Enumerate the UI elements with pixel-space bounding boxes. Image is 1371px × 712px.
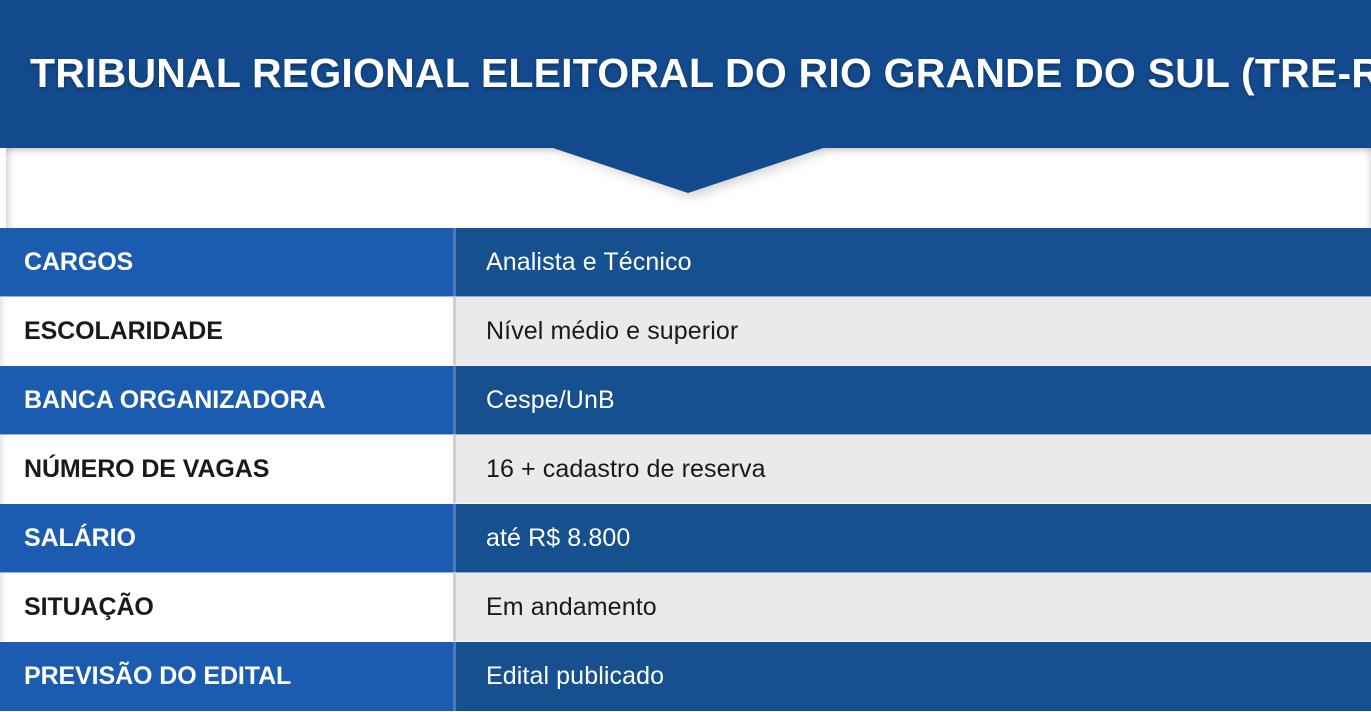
row-value: Em andamento	[453, 573, 1371, 642]
page-root: TRIBUNAL REGIONAL ELEITORAL DO RIO GRAND…	[0, 0, 1371, 712]
row-label: ESCOLARIDADE	[0, 297, 453, 366]
row-label: SITUAÇÃO	[0, 573, 453, 642]
row-value: até R$ 8.800	[453, 504, 1371, 573]
table-row: NÚMERO DE VAGAS 16 + cadastro de reserva	[0, 435, 1371, 504]
row-label: PREVISÃO DO EDITAL	[0, 642, 453, 711]
row-label: NÚMERO DE VAGAS	[0, 435, 453, 504]
row-label: SALÁRIO	[0, 504, 453, 573]
info-table: CARGOS Analista e Técnico ESCOLARIDADE N…	[0, 228, 1371, 711]
row-value: Nível médio e superior	[453, 297, 1371, 366]
table-row: ESCOLARIDADE Nível médio e superior	[0, 297, 1371, 366]
table-row: PREVISÃO DO EDITAL Edital publicado	[0, 642, 1371, 711]
header-banner: TRIBUNAL REGIONAL ELEITORAL DO RIO GRAND…	[0, 0, 1371, 148]
row-value: Edital publicado	[453, 642, 1371, 711]
row-value: Analista e Técnico	[453, 228, 1371, 297]
row-label: BANCA ORGANIZADORA	[0, 366, 453, 435]
row-label: CARGOS	[0, 228, 453, 297]
chevron-down-icon	[550, 147, 826, 193]
table-row: SALÁRIO até R$ 8.800	[0, 504, 1371, 573]
table-row: BANCA ORGANIZADORA Cespe/UnB	[0, 366, 1371, 435]
page-title: TRIBUNAL REGIONAL ELEITORAL DO RIO GRAND…	[30, 0, 1360, 148]
table-row: SITUAÇÃO Em andamento	[0, 573, 1371, 642]
table-row: CARGOS Analista e Técnico	[0, 228, 1371, 297]
row-value: Cespe/UnB	[453, 366, 1371, 435]
row-value: 16 + cadastro de reserva	[453, 435, 1371, 504]
